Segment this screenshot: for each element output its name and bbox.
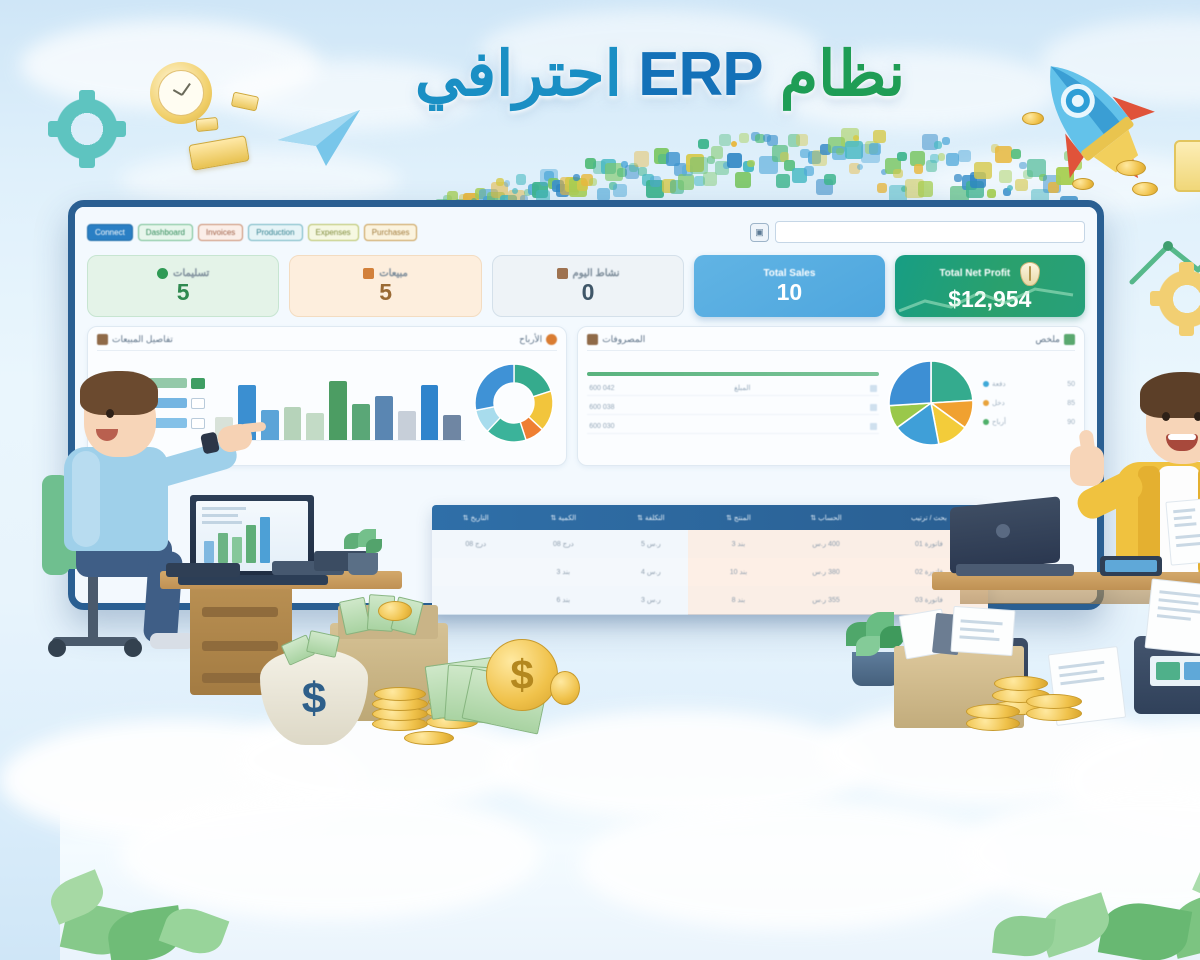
legend-color-dot (923, 400, 929, 406)
expenses-panel: ملخص المصروفات 50 دفعة 85 دخل (517, 326, 1025, 466)
gold-bar-icon (135, 117, 158, 132)
pixel-tile (436, 178, 444, 186)
kpi-card-1[interactable]: Total Sales10 (634, 255, 824, 317)
check-card-icon (1114, 140, 1190, 192)
thumbs-up-icon (1018, 429, 1035, 455)
pixel-tile (817, 183, 827, 193)
donut-slice-5[interactable] (415, 364, 454, 410)
kpi-value: 5 (117, 281, 130, 304)
pixel-tile (687, 160, 695, 168)
kpi-label: تسليمات (113, 268, 149, 279)
pixel-tile (935, 146, 952, 163)
square-badge-icon (37, 334, 48, 345)
pixel-tile (878, 153, 885, 160)
dashboard-toolbar: ▣ PurchasesExpensesProductionInvoicesDas… (27, 217, 1025, 247)
pixel-tile (716, 174, 731, 189)
pixel-tile (643, 172, 657, 186)
table-cell: 380 ر.س (722, 568, 810, 576)
row-mid: المبلغ (674, 384, 690, 392)
leaf-badge-icon (1004, 334, 1015, 345)
toolbar-pill-1[interactable]: Expenses (248, 224, 299, 241)
laptop-icon (890, 502, 1016, 574)
progress-bar (527, 372, 819, 376)
money-pile-left: $ $ (190, 605, 520, 770)
bar-0[interactable] (383, 415, 401, 440)
kpi-label: Total Net Profit (879, 268, 950, 279)
kpi-card-2[interactable]: نشاط اليوم 0 (432, 255, 624, 317)
pixel-tile (537, 188, 550, 201)
poster-canvas: نظام ERP احترافي (0, 0, 1200, 960)
row-marker (810, 404, 817, 411)
pixel-tile (939, 170, 952, 183)
square-badge-icon (497, 268, 508, 279)
expenses-pie-chart (825, 357, 917, 449)
pixel-tile (882, 137, 890, 145)
kpi-label: مبيعات (319, 268, 348, 279)
pixel-tile (553, 184, 566, 197)
profits-donut-chart (411, 360, 497, 446)
row-marker (810, 385, 817, 392)
legend-color-dot (923, 381, 929, 387)
toolbar-pill-5[interactable]: Connect (27, 224, 73, 241)
table-cell: بند 10 (635, 568, 723, 576)
square-badge-icon (303, 268, 314, 279)
donut-slice-0[interactable] (454, 364, 491, 397)
receipt-paper (1085, 578, 1164, 655)
pixel-tile (659, 134, 671, 146)
coin-icon (962, 112, 984, 125)
check-badge-icon (97, 268, 108, 279)
pixel-tile (858, 181, 874, 197)
pixel-tile (736, 134, 748, 146)
toolbar-pill-0[interactable]: Purchases (304, 224, 358, 241)
column-header-2[interactable]: المنتج ⇅ (635, 514, 723, 522)
pixel-tile (886, 153, 899, 166)
pixel-tile (874, 141, 882, 149)
pixel-tile (927, 189, 937, 199)
list-item[interactable]: المبلغ 042 600 (527, 381, 819, 396)
expenses-panel-subtitle: المصروفات (527, 334, 585, 345)
kpi-label: Total Sales (703, 268, 755, 279)
pixel-tile (444, 180, 450, 186)
table-cell: بند 3 (460, 568, 548, 576)
coin-icon (1072, 182, 1098, 196)
toolbar-pill-4[interactable]: Dashboard (78, 224, 133, 241)
profits-panel-subtitle: الأرباح (459, 334, 497, 345)
pixel-tile (776, 148, 783, 155)
column-header-3[interactable]: التكلفة ⇅ (547, 514, 635, 522)
plant-icon (280, 531, 324, 575)
toolbar-pill-2[interactable]: Production (188, 224, 242, 241)
coin-icon (1056, 160, 1086, 176)
kpi-card-3[interactable]: مبيعات 5 (229, 255, 421, 317)
tablet-icon (1040, 556, 1102, 576)
list-item[interactable]: 030 600 (527, 420, 819, 434)
search-input[interactable] (715, 221, 1025, 243)
table-header-row: بحث / ترتيبالحساب ⇅المنتج ⇅التكلفة ⇅الكم… (372, 505, 928, 530)
data-table: بحث / ترتيبالحساب ⇅المنتج ⇅التكلفة ⇅الكم… (372, 505, 928, 615)
pixel-tile (951, 149, 961, 159)
plant-icon (0, 810, 230, 960)
legend-label: دفعة (932, 380, 946, 388)
title-word-professional: احترافي (355, 40, 562, 109)
kpi-card-4[interactable]: تسليمات 5 (27, 255, 219, 317)
target-icon (486, 334, 497, 345)
profits-panel-title: تفاصيل المبيعات (37, 334, 113, 345)
paper-plane-icon (214, 104, 304, 174)
legend-label: دخل (932, 399, 945, 407)
toolbar-pill-3[interactable]: Invoices (138, 224, 183, 241)
pixel-tile (764, 174, 775, 185)
expenses-panel-title: ملخص (975, 334, 1015, 345)
bar-2[interactable] (338, 411, 356, 440)
pixel-tile (947, 185, 953, 191)
pixel-tile (675, 172, 691, 188)
pixel-tile (618, 174, 634, 190)
column-header-4[interactable]: الكمية ⇅ (460, 514, 548, 522)
pixel-tile (898, 150, 910, 162)
money-bag-icon (960, 262, 980, 286)
pixel-tile (914, 162, 931, 179)
row-marker (810, 423, 817, 430)
title-word-erp: ERP (578, 40, 702, 109)
pixel-tile (833, 169, 843, 179)
kpi-value: 0 (522, 281, 535, 304)
list-item[interactable]: 038 600 (527, 401, 819, 415)
kpi-label: نشاط اليوم (513, 268, 560, 279)
money-bag-icon: $ (200, 649, 308, 745)
pixel-tile (894, 174, 902, 182)
pie-slice-0[interactable] (871, 361, 913, 403)
money-pile-right (780, 600, 1040, 760)
pixel-tile (671, 141, 677, 147)
coin-icon: $ (426, 639, 498, 711)
pixel-tile (813, 130, 826, 143)
bar-1[interactable] (361, 385, 379, 440)
table-cell: ر.س 3 (547, 596, 635, 604)
title-word-system: نظام (720, 40, 845, 109)
square-badge-icon (527, 334, 538, 345)
kpi-value: 5 (319, 281, 332, 304)
report-paper (1105, 494, 1196, 565)
kpi-value: 10 (717, 281, 743, 304)
pixel-tile (456, 174, 467, 185)
pixel-tile (529, 178, 537, 186)
gear-icon (1096, 268, 1158, 330)
sparkline (835, 283, 1025, 317)
table-cell: درج 08 (372, 540, 460, 548)
coin-icon (1012, 178, 1034, 190)
kpi-card-0[interactable]: Total Net Profit $12,954 (835, 255, 1025, 317)
pixel-tile (574, 151, 589, 166)
pixel-tile (590, 176, 601, 187)
column-header-1[interactable]: الحساب ⇅ (722, 514, 810, 522)
legend-color-dot (923, 419, 929, 425)
pixel-tile (667, 153, 682, 168)
pixel-tile (837, 152, 846, 161)
pixel-tile (797, 164, 803, 170)
filter-icon[interactable]: ▣ (690, 223, 709, 242)
table-cell: ر.س 5 (547, 540, 635, 548)
column-header-5[interactable]: التاريخ ⇅ (372, 514, 460, 522)
table-cell: درج 08 (460, 540, 548, 548)
table-cell: بند 3 (635, 540, 723, 548)
legend-label: أرباح (932, 418, 946, 426)
row-right: 038 600 (529, 404, 554, 411)
table-cell: بند 8 (635, 596, 723, 604)
toolbar-pill-group: PurchasesExpensesProductionInvoicesDashb… (27, 224, 357, 241)
table-cell: 400 ر.س (722, 540, 810, 548)
expenses-list: المبلغ 042 600 038 600 030 600 (527, 372, 819, 434)
pixel-tile (744, 166, 754, 176)
kpi-card-row: Total Net Profit $12,954Total Sales10 نش… (27, 255, 1025, 317)
pie-slice-5[interactable] (829, 361, 871, 406)
row-right: 030 600 (529, 423, 554, 430)
plant-icon (900, 790, 1200, 960)
pixel-tile (638, 139, 649, 150)
pixel-tile (854, 164, 864, 174)
pixel-tile (809, 143, 821, 155)
row-right: 042 600 (529, 385, 554, 392)
table-cell: بند 6 (460, 596, 548, 604)
pixel-tile (679, 133, 689, 143)
pixel-tile (651, 146, 664, 159)
table-cell: ر.س 4 (547, 568, 635, 576)
